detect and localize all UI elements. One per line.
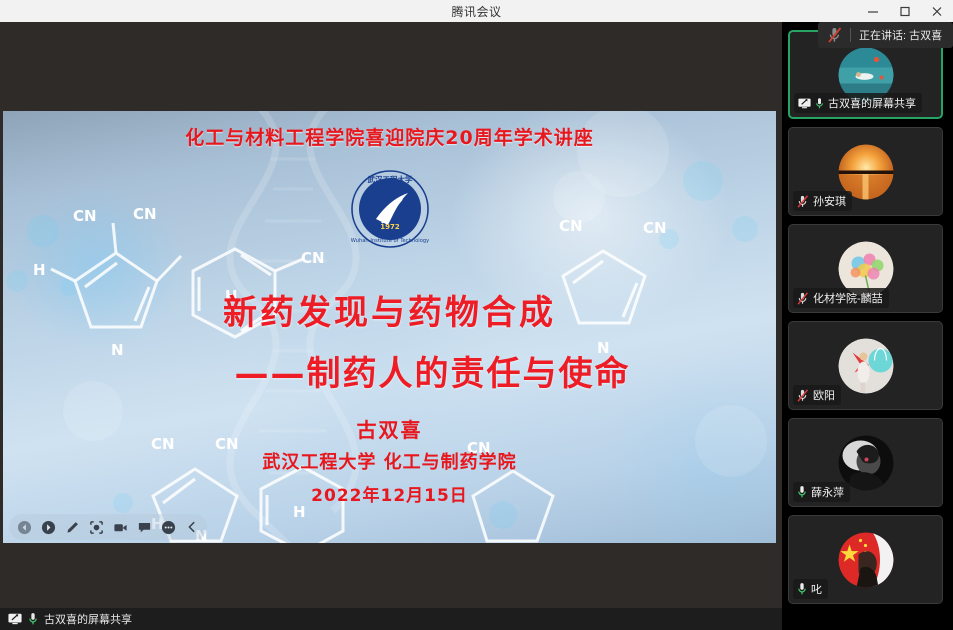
participant-nameplate: 古双喜的屏幕共享 (794, 93, 922, 113)
video-camera-icon[interactable] (109, 516, 131, 538)
slide-affiliation: 武汉工程大学 化工与制药学院 (3, 448, 776, 474)
share-status-bar: 古双喜的屏幕共享 (0, 608, 782, 630)
maximize-button[interactable] (889, 0, 921, 22)
mic-on-icon (28, 612, 38, 626)
chevron-left-icon[interactable] (181, 516, 203, 538)
svg-text:H: H (33, 261, 46, 279)
participant-tile[interactable]: 化材学院-麟喆 (788, 224, 943, 313)
active-speaker-toast: 正在讲话: 古双喜 (818, 22, 953, 48)
shared-screen-stage[interactable]: CN CN H N H CN CN CN (0, 22, 782, 608)
close-button[interactable] (921, 0, 953, 22)
participant-nameplate: 欧阳 (793, 385, 841, 405)
window-titlebar: 腾讯会议 (0, 0, 953, 22)
speech-bubble-icon[interactable] (133, 516, 155, 538)
participant-nameplate: 孙安琪 (793, 191, 852, 211)
mic-muted-icon (828, 27, 842, 43)
participant-name: 古双喜的屏幕共享 (828, 95, 916, 111)
svg-text:CN: CN (643, 219, 667, 237)
window-title: 腾讯会议 (451, 3, 501, 20)
participant-name: 孙安琪 (813, 193, 846, 209)
slide-author: 古双喜 (3, 414, 776, 443)
participant-rail[interactable]: 古双喜的屏幕共享 (782, 22, 953, 630)
participant-name: 化材学院-麟喆 (813, 290, 883, 306)
svg-text:1972: 1972 (380, 223, 400, 231)
svg-text:CN: CN (559, 217, 583, 235)
participant-tile[interactable]: 叱 (788, 515, 943, 604)
toast-divider (850, 28, 851, 42)
powerpoint-presenter-toolbar[interactable] (9, 514, 207, 540)
mic-on-icon (797, 485, 807, 499)
wuhan-institute-of-technology-logo: 1972 武汉工程大学 Wuhan Institute of Technolog… (350, 169, 430, 249)
participant-nameplate: 叱 (793, 579, 828, 599)
mic-muted-icon (797, 195, 809, 208)
participant-nameplate: 化材学院-麟喆 (793, 288, 889, 308)
svg-text:Wuhan Institute of Technology: Wuhan Institute of Technology (350, 238, 429, 244)
share-status-label: 古双喜的屏幕共享 (44, 611, 132, 627)
slide-title-line2: ——制药人的责任与使命 (3, 346, 776, 395)
svg-text:CN: CN (301, 249, 325, 267)
participant-tile[interactable]: 欧阳 (788, 321, 943, 410)
screen-share-icon (8, 613, 22, 625)
svg-text:武汉工程大学: 武汉工程大学 (367, 174, 412, 184)
slide-date: 2022年12月15日 (3, 481, 776, 506)
chevron-left-circle-icon[interactable] (13, 516, 35, 538)
slide-title-line1: 新药发现与药物合成 (3, 285, 776, 334)
tencent-meeting-window: 腾讯会议 (0, 0, 953, 630)
ellipsis-circle-icon[interactable] (157, 516, 179, 538)
participant-tile[interactable]: 孙安琪 (788, 127, 943, 216)
pointer-target-icon[interactable] (85, 516, 107, 538)
svg-text:CN: CN (73, 207, 97, 225)
mic-on-icon (797, 582, 807, 596)
screen-share-icon (798, 98, 811, 109)
avatar (838, 532, 893, 587)
participant-name: 薛永萍 (811, 484, 844, 500)
avatar (838, 338, 893, 393)
chevron-right-circle-icon[interactable] (37, 516, 59, 538)
window-controls (857, 0, 953, 22)
active-speaker-label: 正在讲话: 古双喜 (859, 27, 942, 43)
participant-name: 叱 (811, 581, 822, 597)
participant-nameplate: 薛永萍 (793, 482, 850, 502)
mic-on-icon (815, 97, 824, 110)
participant-name: 欧阳 (813, 387, 835, 403)
svg-text:CN: CN (133, 205, 157, 223)
participant-tile[interactable]: 薛永萍 (788, 418, 943, 507)
pen-icon[interactable] (61, 516, 83, 538)
minimize-button[interactable] (857, 0, 889, 22)
mic-muted-icon (797, 292, 809, 305)
mic-muted-icon (797, 389, 809, 402)
presentation-slide[interactable]: CN CN H N H CN CN CN (3, 111, 776, 543)
slide-header: 化工与材料工程学院喜迎院庆20周年学术讲座 (3, 123, 776, 150)
